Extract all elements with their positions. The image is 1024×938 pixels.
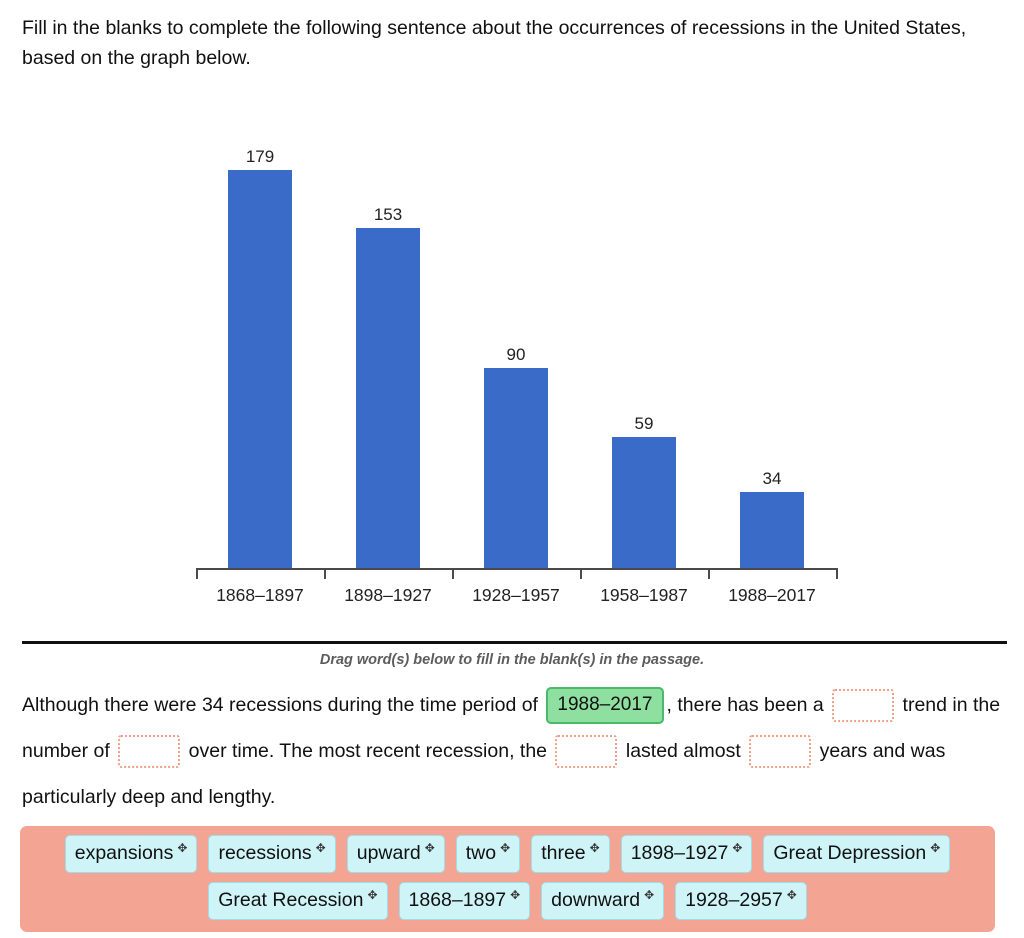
bar-value-label: 179 xyxy=(246,148,274,165)
word-chip[interactable]: two✥ xyxy=(456,835,520,873)
move-icon: ✥ xyxy=(500,842,510,854)
bar xyxy=(228,170,292,568)
x-axis-labels: 1868–18971898–19271928–19571958–19871988… xyxy=(196,580,836,614)
passage-segment-1: Although there were 34 recessions during… xyxy=(22,694,543,716)
word-chip-label: 1898–1927 xyxy=(631,840,729,866)
bar-value-label: 34 xyxy=(763,470,782,487)
x-axis-tick-label: 1958–1987 xyxy=(580,580,708,610)
word-chip[interactable]: 1898–1927✥ xyxy=(621,835,753,873)
word-chip-label: Great Depression xyxy=(773,840,926,866)
bar xyxy=(356,228,420,568)
word-chip[interactable]: expansions✥ xyxy=(65,835,198,873)
filled-blank-1[interactable]: 1988–2017 xyxy=(546,687,663,724)
move-icon: ✥ xyxy=(510,889,520,901)
section-divider xyxy=(22,641,1007,644)
x-axis-tick xyxy=(708,568,710,579)
passage-segment-4: over time. The most recent recession, th… xyxy=(183,740,552,762)
bar-column: 34 xyxy=(740,88,804,568)
word-chip[interactable]: 1868–1897✥ xyxy=(399,882,531,920)
word-chip-label: upward xyxy=(357,840,421,866)
bar-value-label: 90 xyxy=(507,346,526,363)
word-chip-label: 1928–2957 xyxy=(685,887,783,913)
x-axis-tick-label: 1868–1897 xyxy=(196,580,324,610)
word-chip-label: Great Recession xyxy=(218,887,363,913)
bar xyxy=(612,437,676,568)
bar-chart: 179153905934 1868–18971898–19271928–1957… xyxy=(0,88,1024,623)
question-prompt: Fill in the blanks to complete the follo… xyxy=(22,13,1007,73)
x-axis-tick xyxy=(580,568,582,579)
move-icon: ✥ xyxy=(930,842,940,854)
word-chip[interactable]: upward✥ xyxy=(347,835,445,873)
word-chip-label: expansions xyxy=(75,840,174,866)
x-axis-tick xyxy=(196,568,198,579)
bar-column: 90 xyxy=(484,88,548,568)
move-icon: ✥ xyxy=(590,842,600,854)
x-axis-tick-label: 1988–2017 xyxy=(708,580,836,610)
word-chip[interactable]: 1928–2957✥ xyxy=(675,882,807,920)
drag-instruction: Drag word(s) below to fill in the blank(… xyxy=(0,652,1024,668)
blank-2[interactable] xyxy=(832,689,894,722)
bar xyxy=(740,492,804,568)
word-chip[interactable]: Great Depression✥ xyxy=(763,835,950,873)
x-axis-line xyxy=(196,568,836,570)
blank-4[interactable] xyxy=(555,735,617,768)
x-axis-tick xyxy=(836,568,838,579)
bar-value-label: 153 xyxy=(374,206,402,223)
question-page: Fill in the blanks to complete the follo… xyxy=(0,0,1024,938)
bar xyxy=(484,368,548,568)
word-chip-label: three xyxy=(541,840,585,866)
passage-text: Although there were 34 recessions during… xyxy=(22,682,1012,820)
move-icon: ✥ xyxy=(177,842,187,854)
passage-segment-5: lasted almost xyxy=(620,740,746,762)
move-icon: ✥ xyxy=(425,842,435,854)
move-icon: ✥ xyxy=(644,889,654,901)
blank-3[interactable] xyxy=(118,735,180,768)
x-axis-tick-label: 1928–1957 xyxy=(452,580,580,610)
word-chip[interactable]: downward✥ xyxy=(541,882,664,920)
word-chip-label: 1868–1897 xyxy=(409,887,507,913)
word-chip[interactable]: recessions✥ xyxy=(208,835,335,873)
move-icon: ✥ xyxy=(316,842,326,854)
word-chip[interactable]: three✥ xyxy=(531,835,610,873)
word-chip[interactable]: Great Recession✥ xyxy=(208,882,387,920)
word-chip-label: recessions xyxy=(218,840,311,866)
passage-segment-2: , there has been a xyxy=(667,694,830,716)
word-chip-label: downward xyxy=(551,887,640,913)
bar-column: 59 xyxy=(612,88,676,568)
move-icon: ✥ xyxy=(367,889,377,901)
chart-plot-area: 179153905934 xyxy=(196,88,836,568)
bar-column: 179 xyxy=(228,88,292,568)
move-icon: ✥ xyxy=(732,842,742,854)
move-icon: ✥ xyxy=(787,889,797,901)
word-chip-label: two xyxy=(466,840,496,866)
blank-5[interactable] xyxy=(749,735,811,768)
bar-value-label: 59 xyxy=(635,415,654,432)
x-axis-tick xyxy=(324,568,326,579)
bar-column: 153 xyxy=(356,88,420,568)
x-axis-tick-label: 1898–1927 xyxy=(324,580,452,610)
word-bank: expansions✥recessions✥upward✥two✥three✥1… xyxy=(20,826,995,932)
x-axis-tick xyxy=(452,568,454,579)
